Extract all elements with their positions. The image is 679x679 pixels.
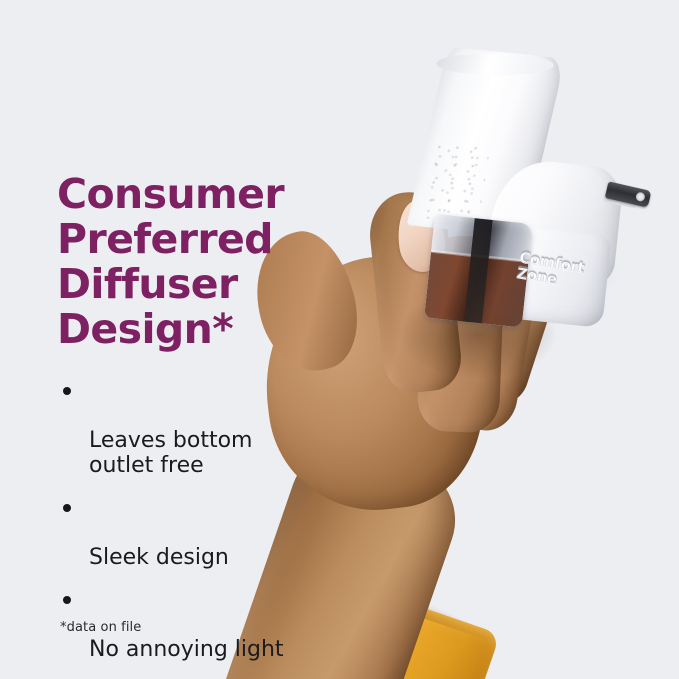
list-item-label: Sleek design [89, 545, 229, 570]
page-title: Consumer Preferred Diffuser Design* [57, 172, 357, 352]
list-item-label: Leaves bottom outlet free [89, 428, 252, 478]
list-item: Leaves bottom outlet free [57, 378, 357, 478]
bullet-dot-icon [63, 504, 71, 512]
bullet-dot-icon [63, 596, 71, 604]
footnote: *data on file [60, 620, 141, 635]
list-item-label: No annoying light [89, 637, 284, 662]
list-item: Sleek design [57, 495, 357, 570]
diffuser-device: Comfort Zone [395, 44, 652, 337]
product-marketing-image: Comfort Zone Consumer Preferred Diffuser… [0, 0, 679, 679]
bullet-dot-icon [63, 387, 71, 395]
copy-block: Consumer Preferred Diffuser Design* Leav… [57, 172, 357, 662]
